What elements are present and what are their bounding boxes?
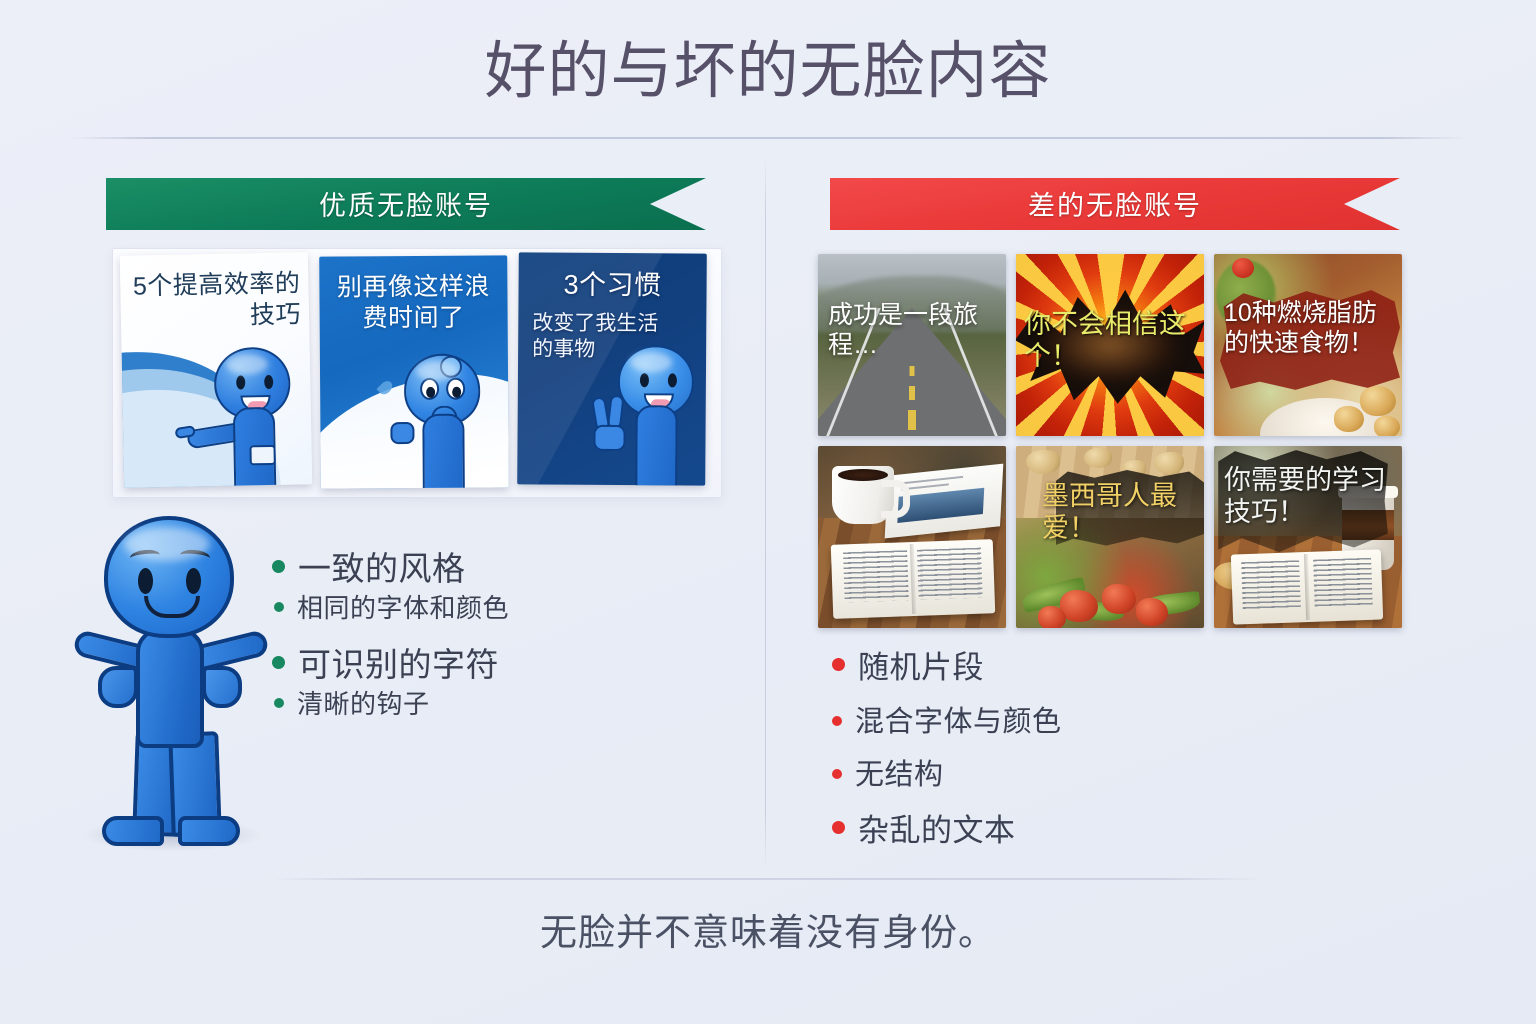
bad-banner-label: 差的无脸账号 bbox=[1028, 184, 1202, 223]
bullet-dot-icon bbox=[274, 698, 284, 708]
bad-thumbnail-grid: 成功是一段旅程… 你不会相信这个！ 10种燃烧脂肪的快速食物！ bbox=[818, 254, 1410, 628]
column-divider bbox=[765, 158, 766, 868]
footer-divider bbox=[272, 878, 1262, 880]
bullet-dot-icon bbox=[832, 658, 845, 671]
bad-thumbnail-card[interactable] bbox=[818, 446, 1006, 628]
title-divider bbox=[68, 137, 1468, 139]
bad-traits-list: 随机片段 混合字体与颜色 无结构 杂乱的文本 bbox=[832, 648, 1302, 867]
thumbnail-overlay-text: 你不会相信这个！ bbox=[1024, 308, 1198, 373]
good-thumbnail-row: 5个提高效率的技巧 别再像这样浪费时间了 bbox=[122, 254, 720, 490]
list-item: 杂乱的文本 bbox=[832, 811, 1302, 851]
list-item-label: 可识别的字符 bbox=[298, 644, 499, 686]
list-item-label: 清晰的钩子 bbox=[297, 688, 430, 722]
bullet-dot-icon bbox=[832, 716, 842, 726]
sad-mascot-icon bbox=[378, 347, 499, 488]
good-banner-label: 优质无脸账号 bbox=[319, 184, 493, 223]
good-thumbnail-card[interactable]: 3个习惯 改变了我生活的事物 bbox=[517, 252, 707, 485]
page-title: 好的与坏的无脸内容 bbox=[0, 38, 1536, 106]
good-thumbnail-card[interactable]: 别再像这样浪费时间了 bbox=[319, 255, 509, 488]
bad-thumbnail-card[interactable]: 10种燃烧脂肪的快速食物！ bbox=[1214, 254, 1402, 436]
list-item-label: 一致的风格 bbox=[298, 548, 466, 590]
good-thumbnail-card[interactable]: 5个提高效率的技巧 bbox=[120, 252, 312, 488]
slide-canvas: 好的与坏的无脸内容 优质无脸账号 差的无脸账号 5个提高效率的技巧 别再像 bbox=[0, 0, 1536, 1024]
good-column-banner: 优质无脸账号 bbox=[106, 178, 706, 230]
bad-thumbnail-card[interactable]: 成功是一段旅程… bbox=[818, 254, 1006, 436]
brand-mascot-illustration bbox=[74, 516, 270, 856]
bad-column-banner: 差的无脸账号 bbox=[830, 178, 1400, 230]
bad-thumbnail-card[interactable]: 你不会相信这个！ bbox=[1016, 254, 1204, 436]
bullet-dot-icon bbox=[272, 560, 285, 573]
list-item: 一致的风格 bbox=[272, 548, 692, 590]
peace-sign-mascot-icon bbox=[591, 339, 707, 486]
footer-caption: 无脸并不意味着没有身份。 bbox=[0, 902, 1536, 956]
list-item-label: 杂乱的文本 bbox=[858, 811, 1016, 851]
list-item-label: 无结构 bbox=[855, 757, 944, 795]
bad-thumbnail-card[interactable]: 墨西哥人最爱！ bbox=[1016, 446, 1204, 628]
list-item: 相同的字体和颜色 bbox=[274, 592, 692, 626]
list-item: 可识别的字符 bbox=[272, 644, 692, 686]
bad-thumbnail-card[interactable]: 你需要的学习技巧！ bbox=[1214, 446, 1402, 628]
thumbnail-headline: 5个提高效率的技巧 bbox=[128, 268, 301, 332]
good-traits-list: 一致的风格 相同的字体和颜色 可识别的字符 清晰的钩子 bbox=[272, 548, 692, 740]
pointing-mascot-icon bbox=[187, 340, 310, 488]
thumbnail-overlay-text: 成功是一段旅程… bbox=[828, 300, 978, 360]
bullet-dot-icon bbox=[274, 602, 284, 612]
coffee-books-photo-backdrop bbox=[818, 446, 1006, 628]
bullet-dot-icon bbox=[832, 769, 842, 779]
bullet-dot-icon bbox=[272, 656, 285, 669]
bullet-dot-icon bbox=[832, 821, 845, 834]
thumbnail-headline: 3个习惯 bbox=[526, 268, 698, 302]
list-item-label: 随机片段 bbox=[858, 648, 984, 688]
thumbnail-overlay-text: 墨西哥人最爱！ bbox=[1042, 480, 1200, 545]
thumbnail-headline: 别再像这样浪费时间了 bbox=[327, 271, 499, 333]
list-item: 无结构 bbox=[832, 757, 1302, 795]
thumbnail-overlay-text: 你需要的学习技巧！ bbox=[1224, 464, 1396, 529]
list-item-label: 相同的字体和颜色 bbox=[297, 592, 509, 626]
list-item: 清晰的钩子 bbox=[274, 688, 692, 722]
list-item: 随机片段 bbox=[832, 648, 1302, 688]
thumbnail-overlay-text: 10种燃烧脂肪的快速食物！ bbox=[1224, 298, 1394, 358]
list-item-label: 混合字体与颜色 bbox=[855, 704, 1062, 742]
list-item: 混合字体与颜色 bbox=[832, 704, 1302, 742]
